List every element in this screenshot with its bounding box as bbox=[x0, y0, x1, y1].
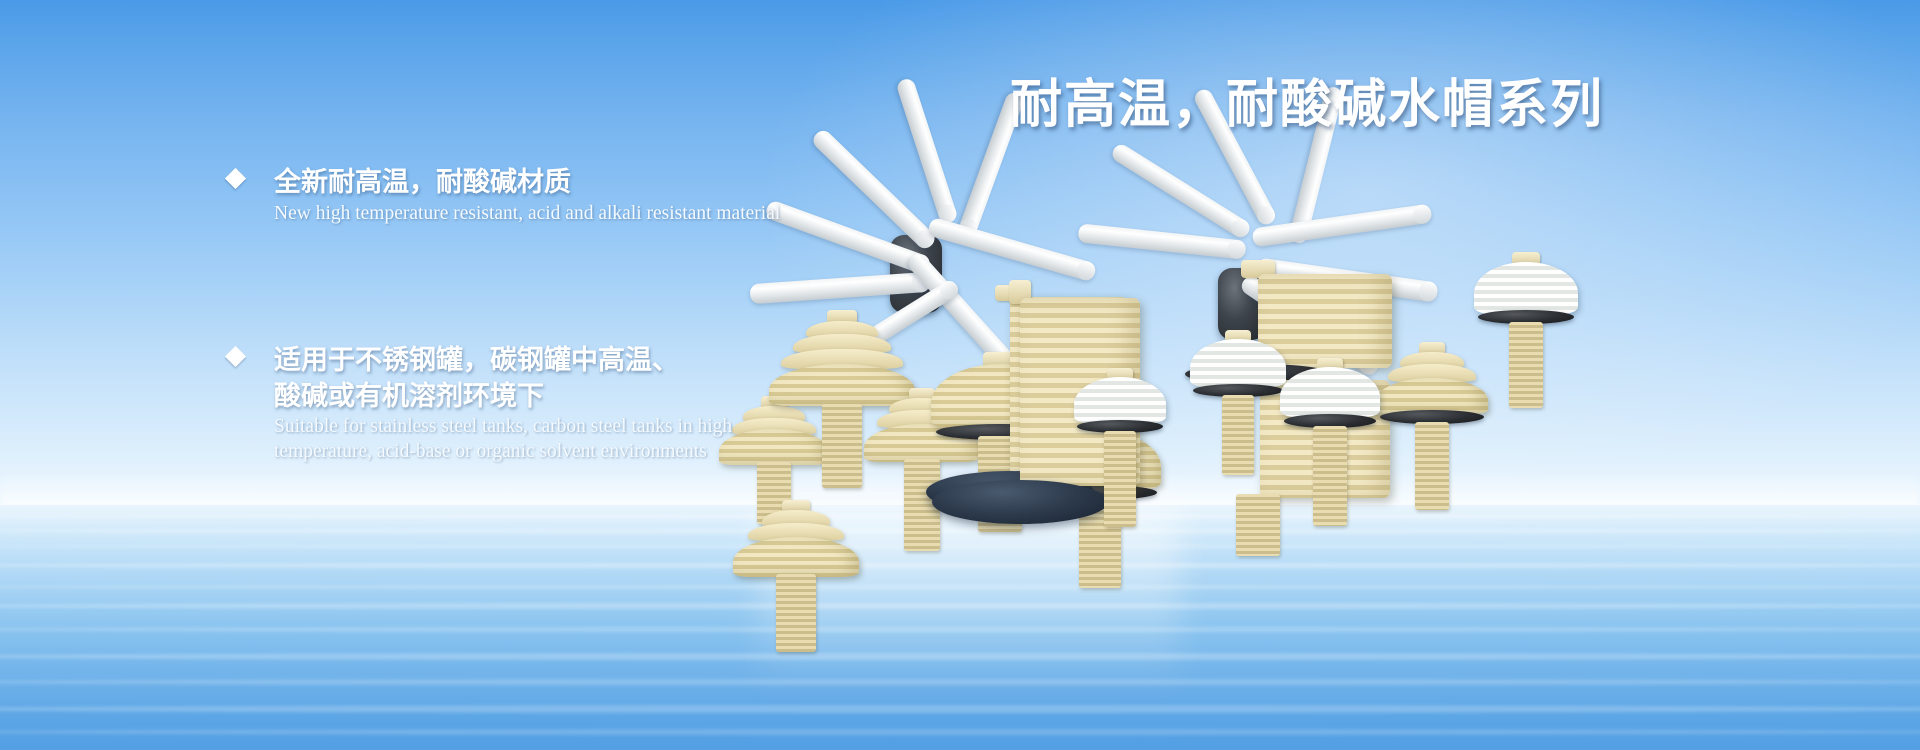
diamond-bullet-icon bbox=[225, 168, 246, 189]
base-flange bbox=[932, 480, 1108, 524]
feature-2-en-line2: temperature, acid-base or organic solven… bbox=[274, 440, 948, 463]
feature-1-en: New high temperature resistant, acid and… bbox=[274, 202, 948, 225]
feature-item-2: 适用于不锈钢罐，碳钢罐中高温、 酸碱或有机溶剂环境下 Suitable for … bbox=[228, 343, 948, 463]
feature-list: 全新耐高温，耐酸碱材质 New high temperature resista… bbox=[228, 165, 948, 463]
pipe-arm bbox=[1252, 204, 1433, 248]
feature-2-cn-line1: 适用于不锈钢罐，碳钢罐中高温、 bbox=[274, 343, 948, 379]
feature-2-cn-line2: 酸碱或有机溶剂环境下 bbox=[274, 379, 948, 415]
page-title: 耐高温，耐酸碱水帽系列 bbox=[1010, 62, 1604, 137]
pipe-arm bbox=[1077, 223, 1246, 259]
product-banner: 耐高温，耐酸碱水帽系列 全新耐高温，耐酸碱材质 New high tempera… bbox=[0, 0, 1920, 750]
diamond-bullet-icon bbox=[225, 346, 246, 367]
pipe-arm bbox=[927, 217, 1098, 283]
feature-2-en-line1: Suitable for stainless steel tanks, carb… bbox=[274, 415, 948, 438]
feature-1-cn: 全新耐高温，耐酸碱材质 bbox=[274, 165, 948, 201]
feature-item-1: 全新耐高温，耐酸碱材质 New high temperature resista… bbox=[228, 165, 948, 225]
